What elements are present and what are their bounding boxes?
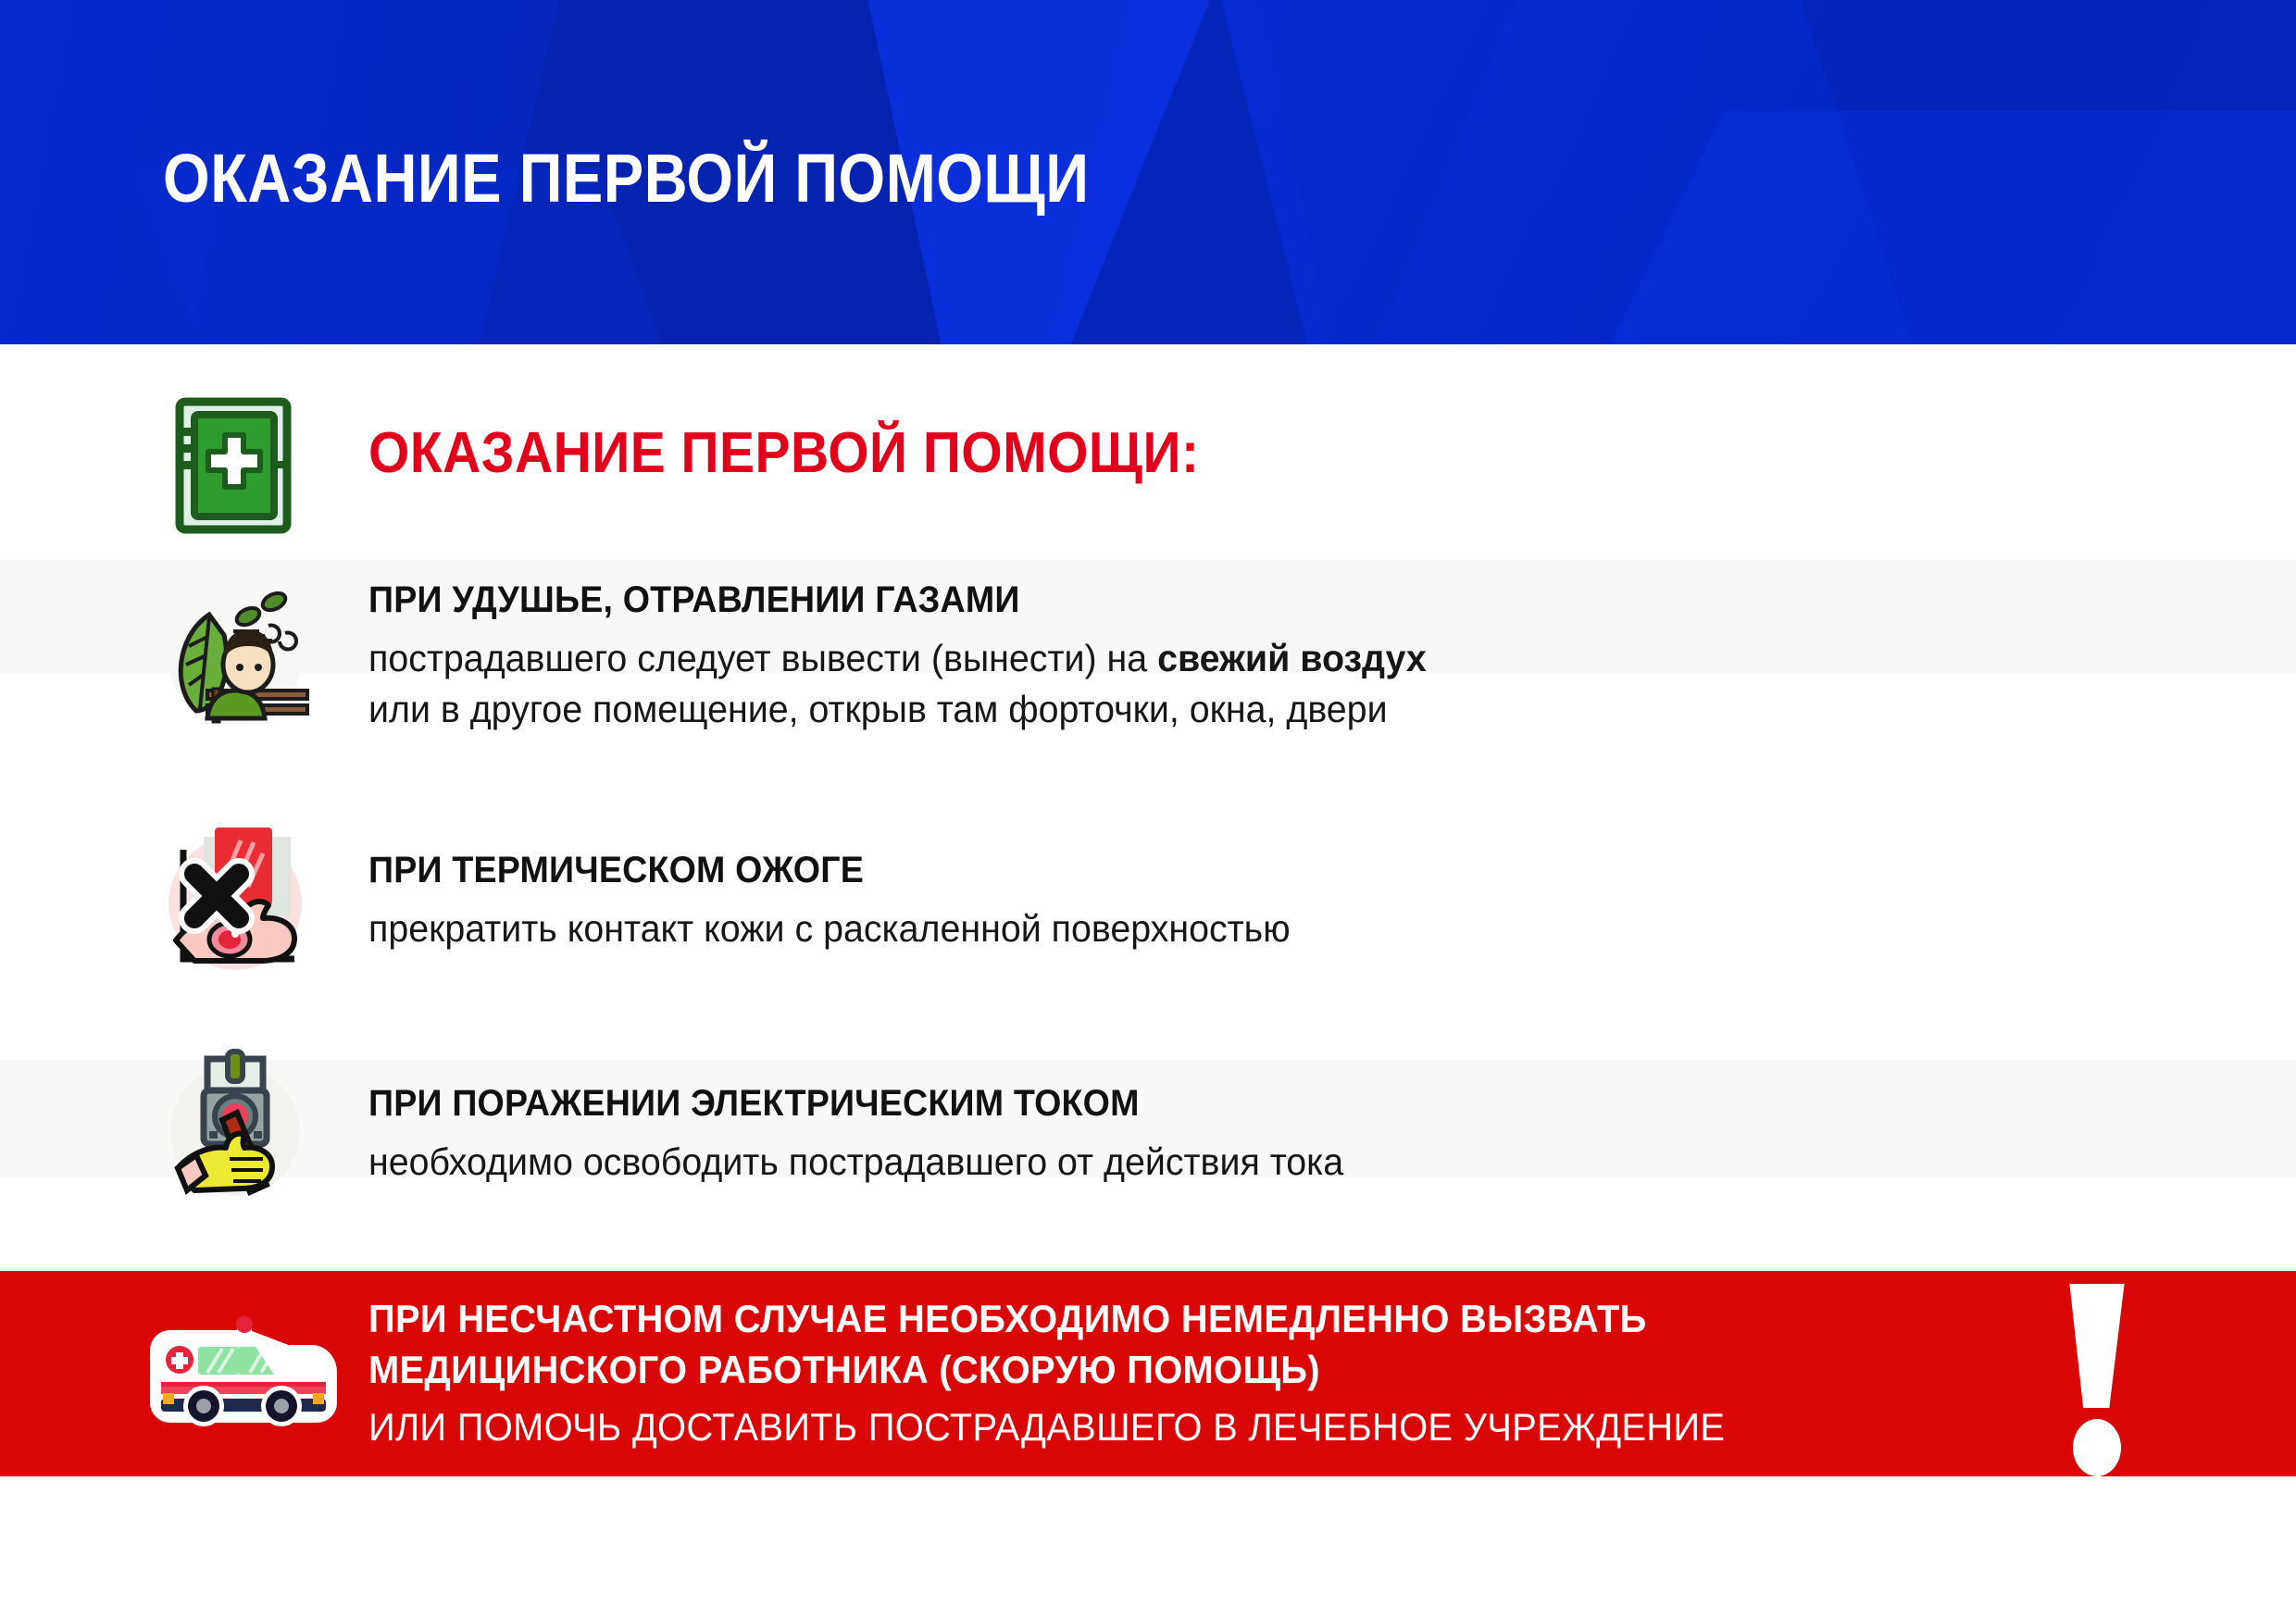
section-heading-label: ОКАЗАНИЕ ПЕРВОЙ ПОМОЩИ: [368,420,1199,486]
aid-row-suffocation-body: ПРИ УДУШЬЕ, ОТРАВЛЕНИИ ГАЗАМИ пострадавш… [368,579,1470,734]
electric-shock-switch-icon [156,1046,315,1216]
page-header: ОКАЗАНИЕ ПЕРВОЙ ПОМОЩИ [0,0,2296,344]
aid-row-thermal-burn: ПРИ ТЕРМИЧЕСКОМ ОЖОГЕ прекратить контакт… [0,815,2296,1000]
aid-row-suffocation-text-1: пострадавшего следует вывести (вынести) … [368,633,1427,684]
emergency-banner: ПРИ НЕСЧАСТНОМ СЛУЧАЕ НЕОБХОДИМО НЕМЕДЛЕ… [0,1271,2296,1476]
aid-row-suffocation-heading: ПРИ УДУШЬЕ, ОТРАВЛЕНИИ ГАЗАМИ [368,579,1404,621]
aid-row-electric-shock: ПРИ ПОРАЖЕНИИ ЭЛЕКТРИЧЕСКИМ ТОКОМ необхо… [0,1037,2296,1231]
aid-row-suffocation-text-2: или в другое помещение, открыв там форто… [368,684,1427,735]
aid-row-thermal-burn-body: ПРИ ТЕРМИЧЕСКОМ ОЖОГЕ прекратить контакт… [368,850,1329,954]
first-aid-kit-icon [156,396,311,535]
person-fresh-air-icon [156,579,315,739]
ambulance-icon [146,1301,341,1439]
exclamation-mark-icon [2035,1284,2174,1465]
aid-text-plain: пострадавшего следует вывести (вынести) … [368,637,1157,679]
emergency-banner-line-2: МЕДИЦИНСКОГО РАБОТНИКА (СКОРУЮ ПОМОЩЬ) [368,1344,1725,1395]
section-heading: ОКАЗАНИЕ ПЕРВОЙ ПОМОЩИ: [0,396,2296,535]
aid-row-electric-shock-body: ПРИ ПОРАЖЕНИИ ЭЛЕКТРИЧЕСКИМ ТОКОМ необхо… [368,1083,1384,1188]
emergency-banner-text: ПРИ НЕСЧАСТНОМ СЛУЧАЕ НЕОБХОДИМО НЕМЕДЛЕ… [368,1293,1796,1453]
aid-row-thermal-burn-heading: ПРИ ТЕРМИЧЕСКОМ ОЖОГЕ [368,850,1271,891]
aid-row-electric-shock-heading: ПРИ ПОРАЖЕНИИ ЭЛЕКТРИЧЕСКИМ ТОКОМ [368,1083,1323,1125]
thermal-burn-hand-icon [156,822,315,985]
aid-text-bold: свежий воздух [1157,637,1427,679]
emergency-banner-line-3: ИЛИ ПОМОЧЬ ДОСТАВИТЬ ПОСТРАДАВШЕГО В ЛЕЧ… [368,1401,1725,1453]
aid-row-electric-shock-text: необходимо освободить пострадавшего от д… [368,1137,1343,1188]
aid-row-suffocation: ПРИ УДУШЬЕ, ОТРАВЛЕНИИ ГАЗАМИ пострадавш… [0,563,2296,794]
page-title: ОКАЗАНИЕ ПЕРВОЙ ПОМОЩИ [163,144,1089,213]
emergency-banner-line-1: ПРИ НЕСЧАСТНОМ СЛУЧАЕ НЕОБХОДИМО НЕМЕДЛЕ… [368,1293,1725,1344]
aid-row-thermal-burn-text: прекратить контакт кожи с раскаленной по… [368,903,1291,954]
